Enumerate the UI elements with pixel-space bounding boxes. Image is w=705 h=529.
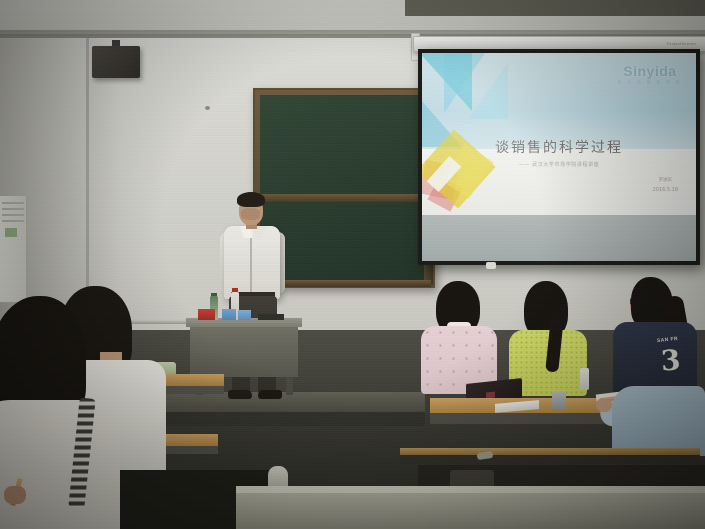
presenter-shirt-placket (250, 234, 252, 296)
slide-logo: Sinyida 信 元 达 信 息 科 技 (618, 63, 682, 85)
air-conditioner-unit (0, 196, 27, 302)
slide-band-bottom (422, 215, 696, 261)
presenter-shoe-left (228, 390, 252, 399)
slide-author: 罗进军 (659, 177, 673, 183)
podium-leg-right (286, 377, 293, 395)
student-foreground-near-body (0, 400, 120, 529)
student-foreground-near-hand (4, 486, 26, 504)
blackboard-divider (260, 194, 428, 202)
ac-badge-icon (5, 228, 17, 237)
desk-water-bottle (580, 368, 589, 390)
classroom-photo: ProjectScreen Sinyida 信 元 达 信 息 科 技 谈销售的… (0, 0, 705, 529)
slide-logo-text: Sinyida (618, 63, 682, 79)
student-blue-hand (596, 398, 612, 412)
red-box (198, 309, 215, 320)
presenter-hair (237, 192, 265, 207)
slide-title: 谈销售的科学过程 (422, 137, 696, 157)
slide-subtitle: —— 武汉大学市场学院讲程讲座 (422, 161, 696, 168)
blue-box-2 (238, 310, 251, 320)
presenter-shoe-right (258, 390, 282, 399)
cup (552, 392, 566, 410)
board-eraser (486, 262, 496, 269)
podium-book (258, 314, 284, 320)
slide-logo-subtext: 信 元 达 信 息 科 技 (618, 80, 682, 85)
student-blue-body (612, 386, 705, 456)
slide-triangle-cyan-3 (468, 63, 508, 119)
presentation-slide: Sinyida 信 元 达 信 息 科 技 谈销售的科学过程 —— 武汉大学市场… (422, 53, 696, 261)
speaker-cone-icon (205, 106, 210, 110)
foreground-rail-shadow (400, 455, 700, 465)
foreground-rail (400, 448, 700, 455)
screen-brand-label: ProjectScreen (667, 41, 696, 46)
blue-box-1 (222, 309, 236, 320)
slide-date: 2016.5.18 (653, 187, 678, 193)
foreground-desk-edge (236, 486, 705, 493)
podium-body (190, 327, 298, 377)
blackboard-surface (260, 95, 428, 281)
wall-speaker-icon (92, 46, 140, 78)
presenter-face-shadow (241, 208, 260, 220)
jacket-number: 3 (660, 343, 682, 377)
ceiling-dark-band (405, 0, 705, 16)
